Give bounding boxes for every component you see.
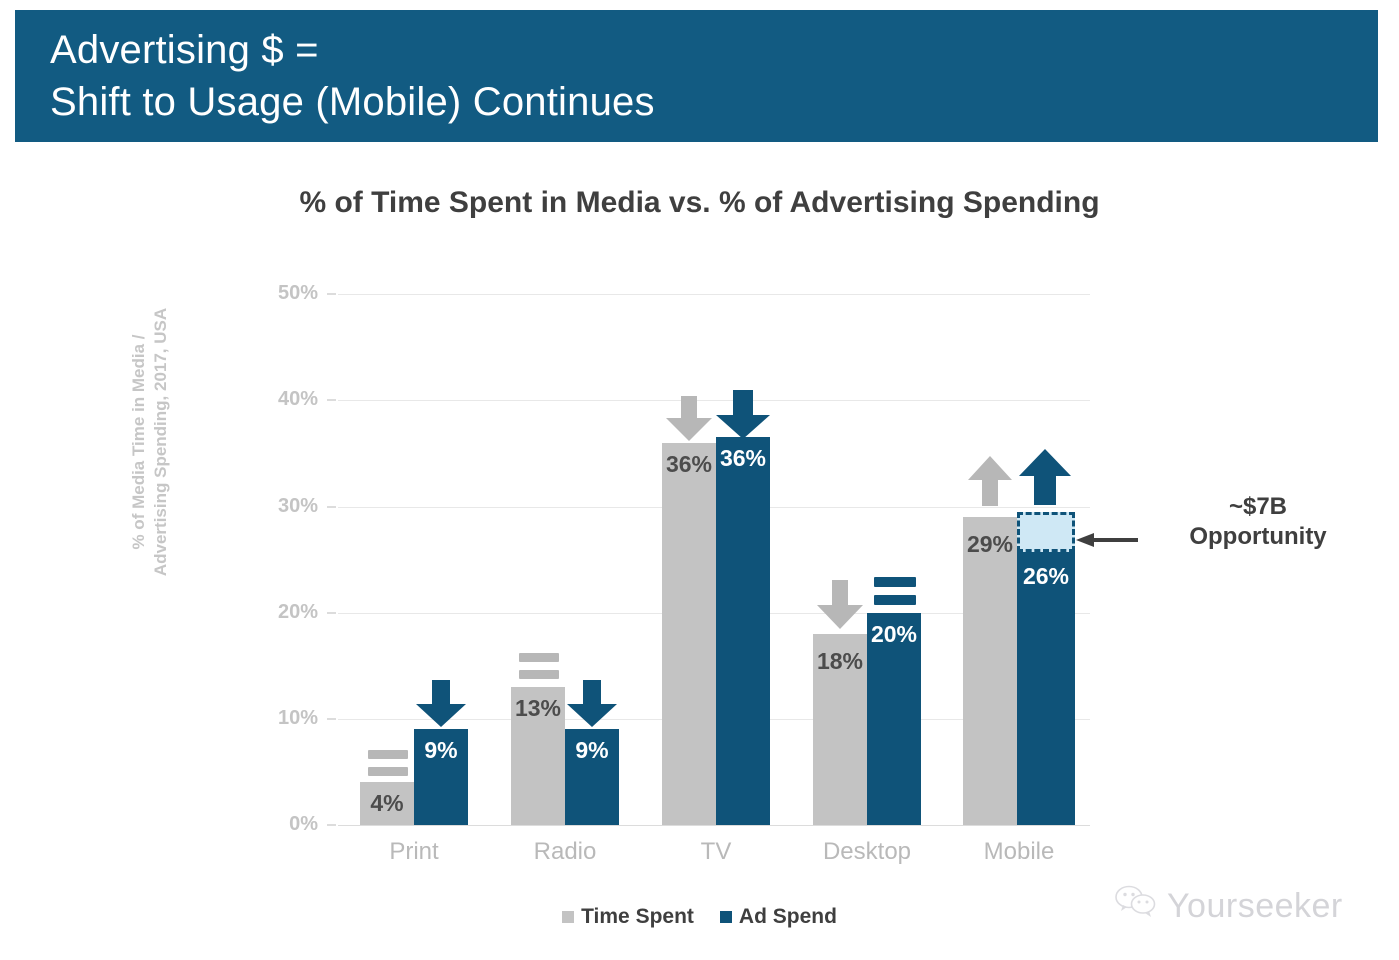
bar-label-mobile-time-spent: 29% [963,531,1017,558]
legend-item-time-spent[interactable]: Time Spent [562,905,694,929]
bar-label-desktop-time-spent: 18% [813,648,867,675]
trend-down-arrow-icon-desktop-time-spent [815,580,865,630]
bar-label-radio-ad-spend: 9% [565,737,619,764]
trend-equals-icon-print-time-spent [368,750,408,776]
trend-down-arrow-icon-radio-ad-spend [565,680,619,728]
ytick-label-0: 0% [258,813,318,836]
bar-label-radio-time-spent: 13% [511,695,565,722]
gridline-0 [338,825,1090,826]
opportunity-annotation-box [1017,512,1075,552]
trend-down-arrow-icon-tv-ad-spend [714,390,772,440]
ytick-dash-30 [327,506,336,508]
gridline-50 [338,294,1090,295]
trend-equals-icon-radio-time-spent [519,653,559,679]
bar-radio-time-spent[interactable]: 13% [511,687,565,825]
ytick-dash-50 [327,293,336,295]
bar-label-desktop-ad-spend: 20% [867,621,921,648]
opportunity-callout-label: ~$7B Opportunity [1143,492,1373,552]
bar-print-ad-spend[interactable]: 9% [414,729,468,825]
y-axis-title: % of Media Time in Media / Advertising S… [128,232,172,652]
ytick-label-50: 50% [258,282,318,305]
ytick-dash-20 [327,612,336,614]
bar-tv-time-spent[interactable]: 36% [662,443,716,825]
wechat-icon [1115,885,1157,928]
bar-label-tv-time-spent: 36% [662,451,716,478]
ytick-dash-40 [327,399,336,401]
bar-desktop-time-spent[interactable]: 18% [813,634,867,825]
legend-label-time-spent: Time Spent [581,905,694,929]
x-axis-label-mobile: Mobile [949,838,1089,866]
ytick-dash-10 [327,718,336,720]
y-axis-title-line-2: Advertising Spending, 2017, USA [150,232,172,652]
legend-swatch-ad-spend [720,911,732,923]
legend-item-ad-spend[interactable]: Ad Spend [720,905,837,929]
opportunity-text: Opportunity [1143,522,1373,552]
bar-tv-ad-spend[interactable]: 36% [716,437,770,825]
trend-equals-icon-desktop-ad-spend [874,577,916,605]
ytick-label-20: 20% [258,601,318,624]
bar-radio-ad-spend[interactable]: 9% [565,729,619,825]
legend-swatch-time-spent [562,911,574,923]
x-axis-label-radio: Radio [495,838,635,866]
x-axis-label-print: Print [344,838,484,866]
opportunity-amount: ~$7B [1143,492,1373,522]
bar-label-tv-ad-spend: 36% [716,445,770,472]
bar-label-print-ad-spend: 9% [414,737,468,764]
ytick-label-30: 30% [258,495,318,518]
bar-mobile-time-spent[interactable]: 29% [963,517,1017,825]
y-axis-title-line-1: % of Media Time in Media / [128,232,150,652]
trend-up-arrow-icon-mobile-time-spent [966,455,1014,507]
opportunity-callout-arrow-icon [1076,533,1138,547]
bar-label-mobile-ad-spend: 26% [1017,563,1075,590]
chart-plot-area: % of Media Time in Media / Advertising S… [0,0,1399,960]
bar-print-time-spent[interactable]: 4% [360,782,414,825]
trend-down-arrow-icon-print-ad-spend [414,680,468,728]
bar-label-print-time-spent: 4% [360,790,414,817]
legend-label-ad-spend: Ad Spend [739,905,837,929]
x-axis-label-tv: TV [646,838,786,866]
watermark-text: Yourseeker [1167,887,1343,926]
ytick-label-10: 10% [258,707,318,730]
bar-mobile-ad-spend[interactable]: 26% [1017,549,1075,825]
trend-up-arrow-icon-mobile-ad-spend [1017,448,1073,506]
watermark: Yourseeker [1115,885,1343,928]
bar-desktop-ad-spend[interactable]: 20% [867,613,921,825]
trend-down-arrow-icon-tv-time-spent [664,396,714,442]
ytick-label-40: 40% [258,388,318,411]
x-axis-label-desktop: Desktop [797,838,937,866]
ytick-dash-0 [327,824,336,826]
